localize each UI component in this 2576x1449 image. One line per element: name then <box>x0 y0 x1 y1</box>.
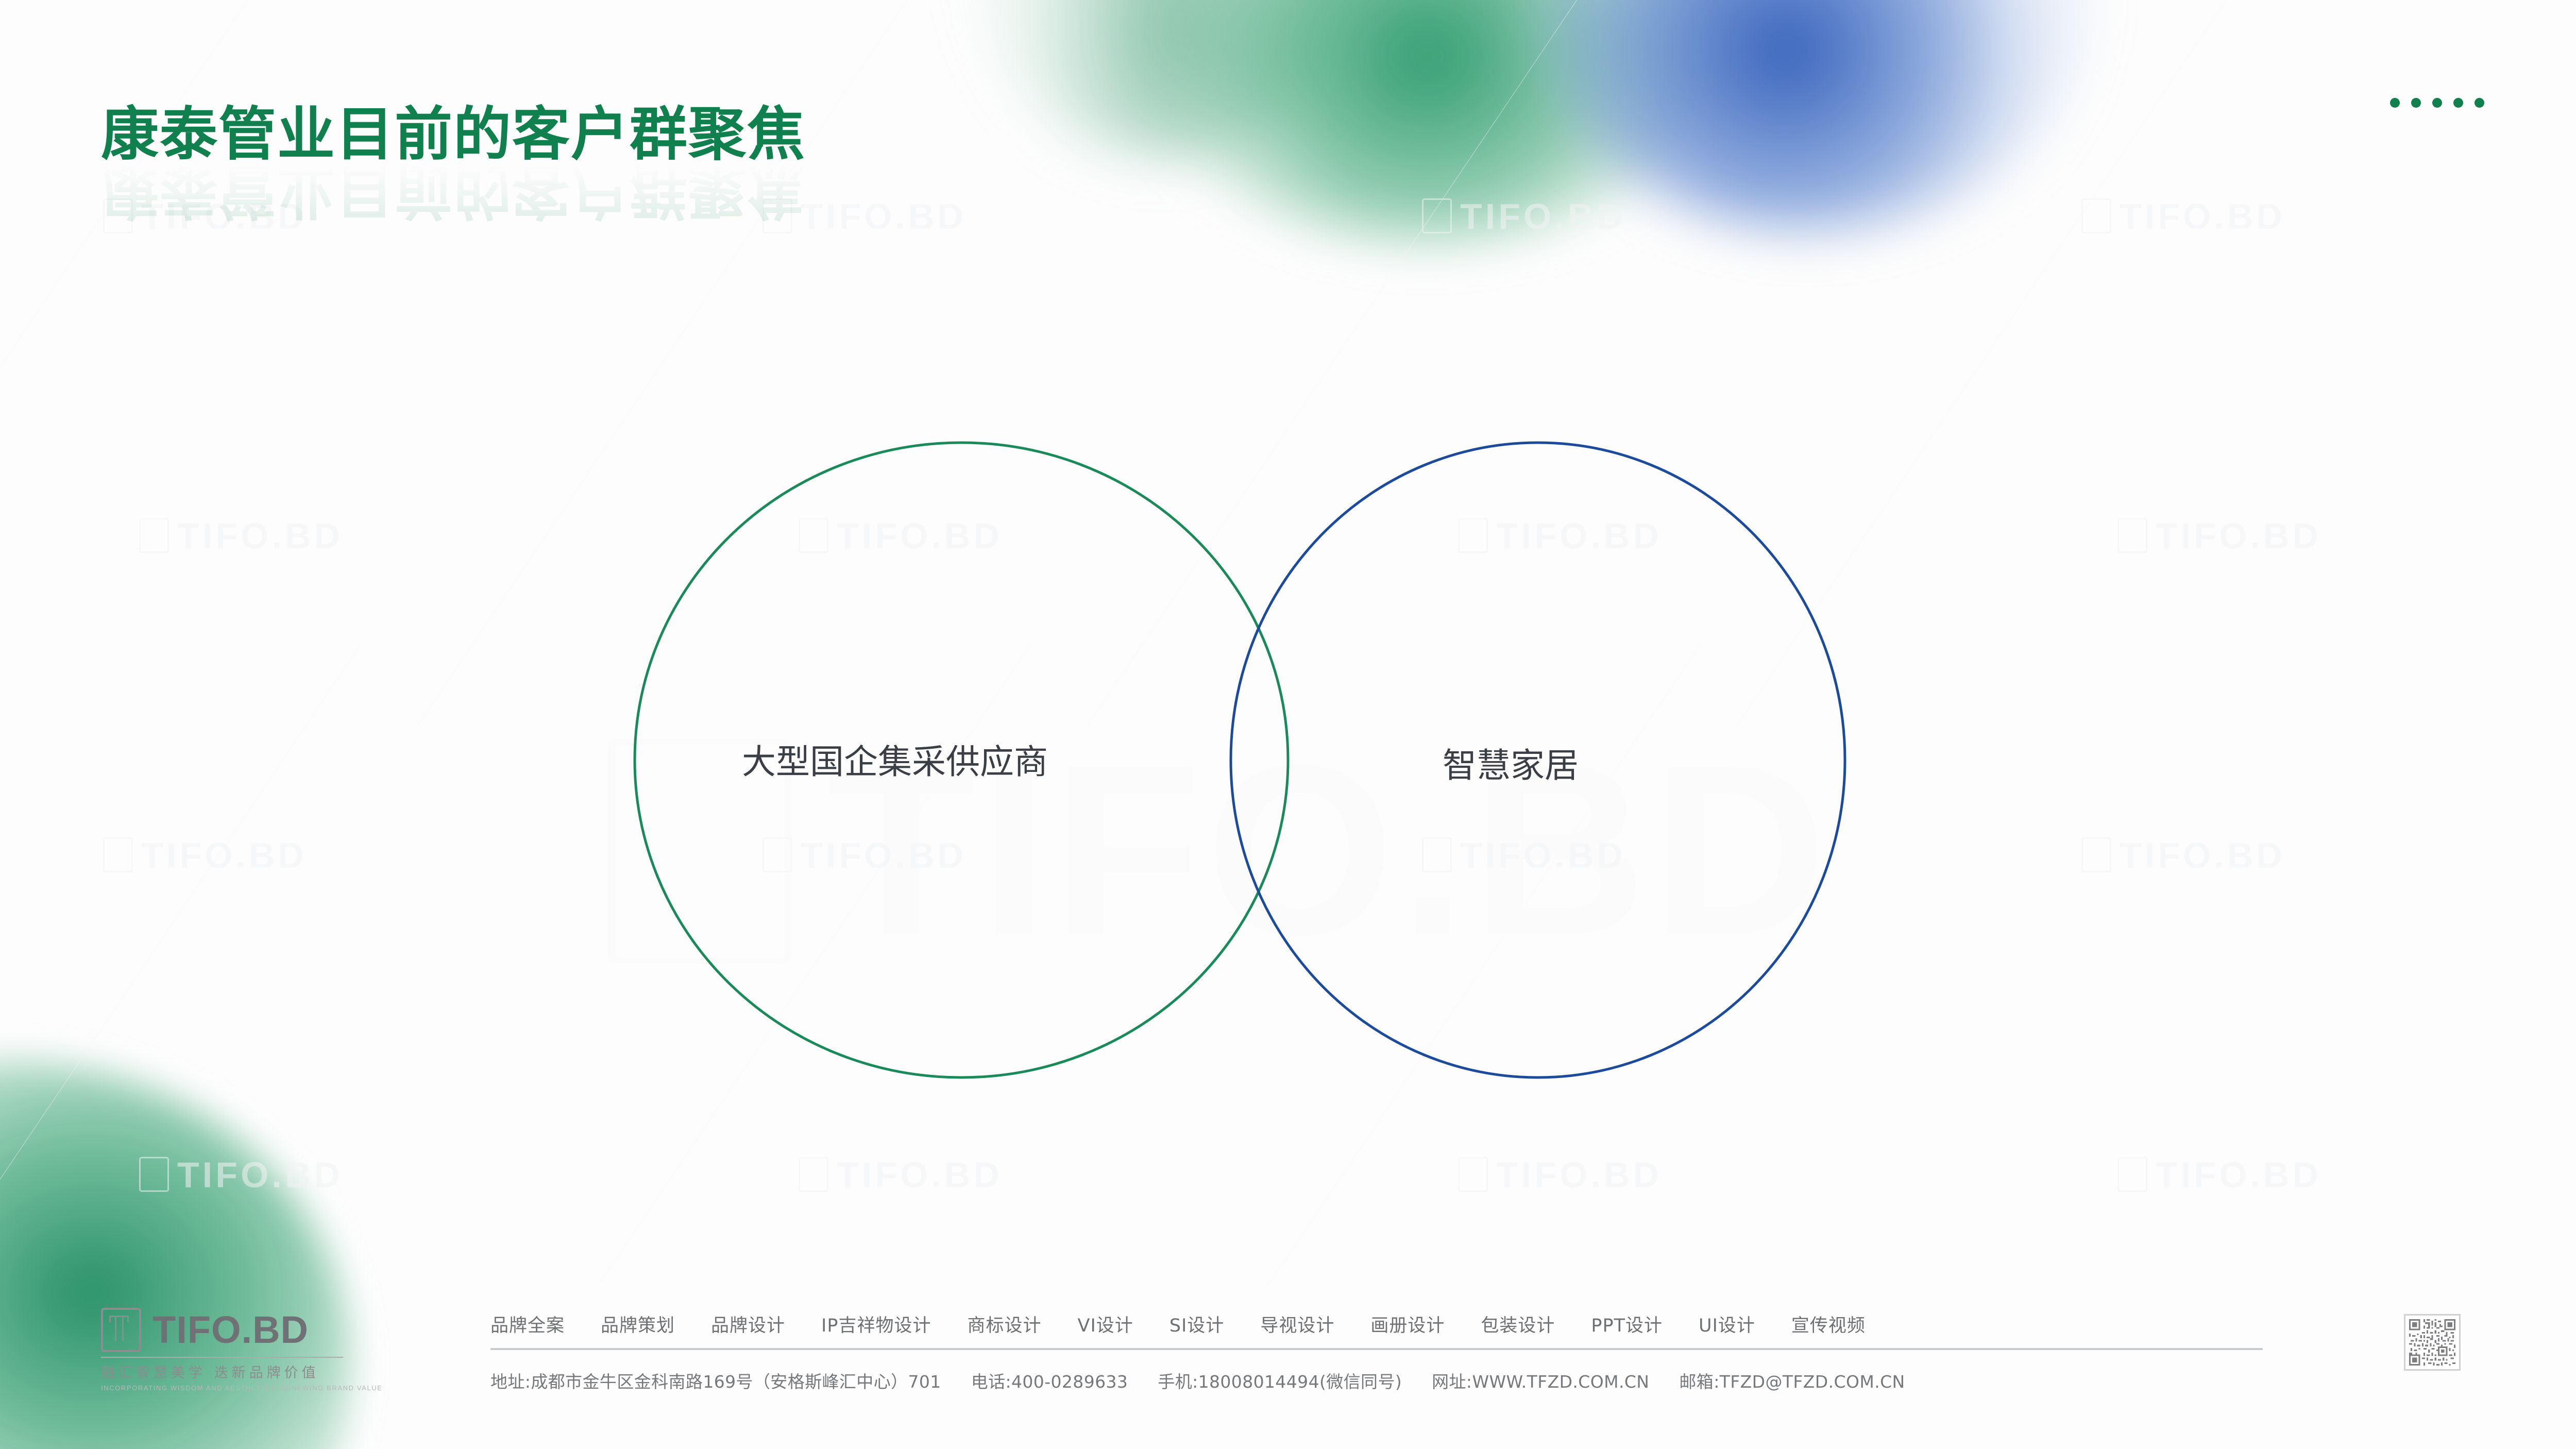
footer-mobile: 手机:18008014494(微信同号) <box>1158 1368 1402 1393</box>
footer-service-item[interactable]: 品牌策划 <box>601 1311 675 1337</box>
watermark-text: TIFO.BD <box>801 835 967 875</box>
footer-service-item[interactable]: 导视设计 <box>1260 1311 1334 1337</box>
watermark-text: TIFO.BD <box>1496 1155 1662 1195</box>
watermark-text: TIFO.BD <box>141 835 307 875</box>
watermark-text: TIFO.BD <box>837 516 1003 556</box>
footer-phone: 电话:400-0289633 <box>971 1368 1128 1393</box>
footer-logo: TIFO.BD 融汇智慧美学 迭新品牌价值 INCORPORATING WISD… <box>101 1308 343 1392</box>
decorative-green-blob-secondary <box>969 0 1360 155</box>
footer-logo-tagline-cn: 融汇智慧美学 迭新品牌价值 <box>101 1361 343 1381</box>
header-dot-icon <box>2390 98 2400 108</box>
venn-diagram <box>0 0 2576 1449</box>
watermark-text: TIFO.BD <box>177 516 343 556</box>
watermark-text: TIFO.BD <box>1496 516 1662 556</box>
watermark-text: TIFO.BD <box>2120 196 2285 237</box>
watermark-layer: TIFO.BD TIFO.BD TIFO.BD TIFO.BD TIFO.BD … <box>0 0 2576 1449</box>
watermark-text: TIFO.BD <box>1460 835 1626 875</box>
footer-service-item[interactable]: PPT设计 <box>1591 1311 1663 1337</box>
footer-email[interactable]: 邮箱:TFZD@TFZD.COM.CN <box>1679 1368 1905 1393</box>
watermark-text: TIFO.BD <box>1460 196 1626 237</box>
watermark-text: TIFO.BD <box>2156 1155 2321 1195</box>
venn-label-left: 大型国企集采供应商 <box>742 734 1048 784</box>
tifo-logo-mark-icon <box>101 1308 141 1352</box>
watermark-text: TIFO.BD <box>177 1155 343 1195</box>
watermark-text: TIFO.BD <box>801 196 967 237</box>
header-dot-icon <box>2475 98 2484 108</box>
footer-service-item[interactable]: 商标设计 <box>967 1311 1041 1337</box>
decorative-blue-blob-top <box>1525 0 2092 232</box>
footer-divider <box>490 1348 2263 1350</box>
footer-service-item[interactable]: 宣传视频 <box>1791 1311 1866 1337</box>
footer-services-nav: 品牌全案 品牌策划 品牌设计 IP吉祥物设计 商标设计 VI设计 SI设计 导视… <box>490 1311 1866 1337</box>
footer-service-item[interactable]: 画册设计 <box>1370 1311 1445 1337</box>
footer-address: 地址:成都市金牛区金科南路169号（安格斯峰汇中心）701 <box>490 1368 941 1393</box>
slide-canvas: TIFO.BD TIFO.BD TIFO.BD TIFO.BD TIFO.BD … <box>0 0 2576 1449</box>
watermark-text: TIFO.BD <box>2156 516 2321 556</box>
header-dots-decoration <box>2390 98 2484 108</box>
header-dot-icon <box>2432 98 2442 108</box>
footer-service-item[interactable]: IP吉祥物设计 <box>821 1311 931 1337</box>
header-dot-icon <box>2411 98 2421 108</box>
footer-logo-tagline-en: INCORPORATING WISDOM AND AESTHETICS, REN… <box>101 1384 343 1392</box>
venn-label-right: 智慧家居 <box>1443 738 1579 787</box>
footer-service-item[interactable]: 品牌设计 <box>711 1311 785 1337</box>
footer-website[interactable]: 网址:WWW.TFZD.COM.CN <box>1432 1368 1649 1393</box>
header-dot-icon <box>2453 98 2463 108</box>
page-title: 康泰管业目前的客户群聚焦 <box>101 88 806 171</box>
footer-logo-divider <box>101 1357 343 1358</box>
footer-contact-bar: 地址:成都市金牛区金科南路169号（安格斯峰汇中心）701 电话:400-028… <box>490 1368 1905 1393</box>
footer-service-item[interactable]: UI设计 <box>1699 1311 1755 1337</box>
footer-service-item[interactable]: SI设计 <box>1170 1311 1225 1337</box>
watermark-text: TIFO.BD <box>837 1155 1003 1195</box>
qr-code-icon <box>2404 1314 2461 1371</box>
footer-service-item[interactable]: VI设计 <box>1078 1311 1133 1337</box>
footer-logo-wordmark: TIFO.BD <box>152 1311 309 1349</box>
watermark-text: TIFO.BD <box>141 196 307 237</box>
watermark-text: TIFO.BD <box>2120 835 2285 875</box>
decorative-green-blob-top <box>1123 0 1731 242</box>
footer-service-item[interactable]: 品牌全案 <box>490 1311 565 1337</box>
footer-service-item[interactable]: 包装设计 <box>1481 1311 1555 1337</box>
